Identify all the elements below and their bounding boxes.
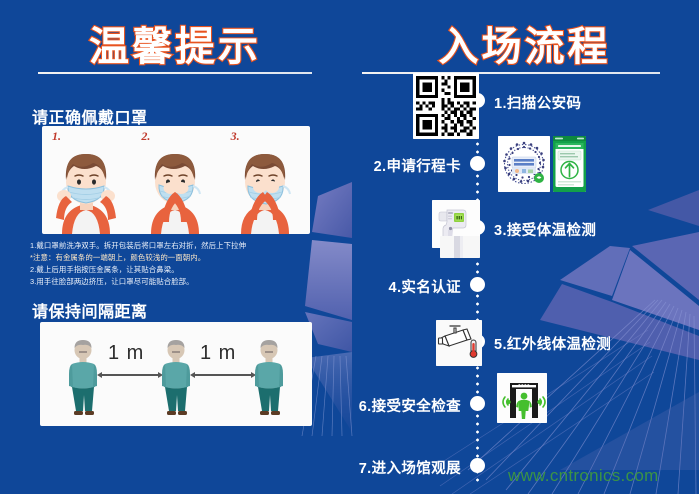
mask-instructions: 1.戴口罩前洗净双手。拆开包装后将口罩左右对折，然后上下拉伸 *注意：有金属条的… bbox=[30, 240, 320, 288]
step-label-2: 2.申请行程卡 bbox=[374, 155, 461, 176]
thermal-camera-thermometer-icon[interactable] bbox=[436, 320, 482, 366]
mask-step-1-number: 1. bbox=[52, 129, 61, 144]
watermark: www.cntronics.com bbox=[508, 466, 659, 486]
step-label-7: 7.进入场馆观展 bbox=[359, 457, 461, 478]
id-verification-card-icon[interactable] bbox=[440, 236, 480, 258]
left-panel: 温馨提示 请正确佩戴口罩 1. bbox=[0, 0, 350, 494]
step-label-5: 5.红外线体温检测 bbox=[494, 333, 611, 354]
step-label-4: 4.实名认证 bbox=[389, 276, 462, 297]
mask-instruction-3: 3.用手往脸部两边挤压，让口罩尽可能贴合脸部。 bbox=[30, 276, 320, 288]
timeline-node-6 bbox=[470, 396, 485, 411]
distance-label-1: 1 m bbox=[108, 342, 144, 365]
mask-step-1: 1. bbox=[42, 126, 131, 234]
mask-instruction-0: 1.戴口罩前洗净双手。拆开包装后将口罩左右对折，然后上下拉伸 bbox=[30, 240, 320, 252]
left-divider bbox=[38, 72, 312, 74]
timeline-node-7 bbox=[470, 458, 485, 473]
step-label-6: 6.接受安全检查 bbox=[359, 395, 461, 416]
mask-step-2-number: 2. bbox=[141, 129, 150, 144]
mask-step-2: 2. bbox=[131, 126, 220, 234]
mask-instruction-2: 2.戴上后用手指按压金属条，让其贴合鼻梁。 bbox=[30, 264, 320, 276]
distance-arrow-2 bbox=[195, 374, 251, 376]
person-standing-icon-2 bbox=[159, 340, 193, 418]
distance-section-heading: 请保持间隔距离 bbox=[32, 298, 148, 322]
person-standing-icon-1 bbox=[66, 340, 100, 418]
security-gate-scanner-icon[interactable] bbox=[497, 373, 547, 423]
timeline-node-4 bbox=[470, 277, 485, 292]
mask-section-heading: 请正确佩戴口罩 bbox=[32, 104, 148, 128]
qr-code-public-security-icon[interactable] bbox=[413, 73, 479, 139]
social-distance-card: 1 m 1 m bbox=[40, 322, 312, 426]
distance-arrow-1 bbox=[102, 374, 158, 376]
step-label-1: 1.扫描公安码 bbox=[494, 92, 581, 113]
timeline-node-2 bbox=[470, 156, 485, 171]
right-panel-title: 入场流程 bbox=[350, 14, 699, 72]
mask-step-3-number: 3. bbox=[231, 129, 240, 144]
right-divider bbox=[362, 72, 660, 74]
left-panel-title: 温馨提示 bbox=[0, 14, 350, 72]
mask-instruction-1: *注意：有金属条的一端朝上，颜色较浅的一面朝内。 bbox=[30, 252, 320, 264]
mask-step-3: 3. bbox=[221, 126, 310, 234]
step-label-3: 3.接受体温检测 bbox=[494, 219, 596, 240]
mask-illustration-card: 1. bbox=[42, 126, 310, 234]
distance-label-2: 1 m bbox=[200, 342, 236, 365]
poster-root: 温馨提示 请正确佩戴口罩 1. bbox=[0, 0, 699, 494]
person-standing-icon-3 bbox=[252, 340, 286, 418]
